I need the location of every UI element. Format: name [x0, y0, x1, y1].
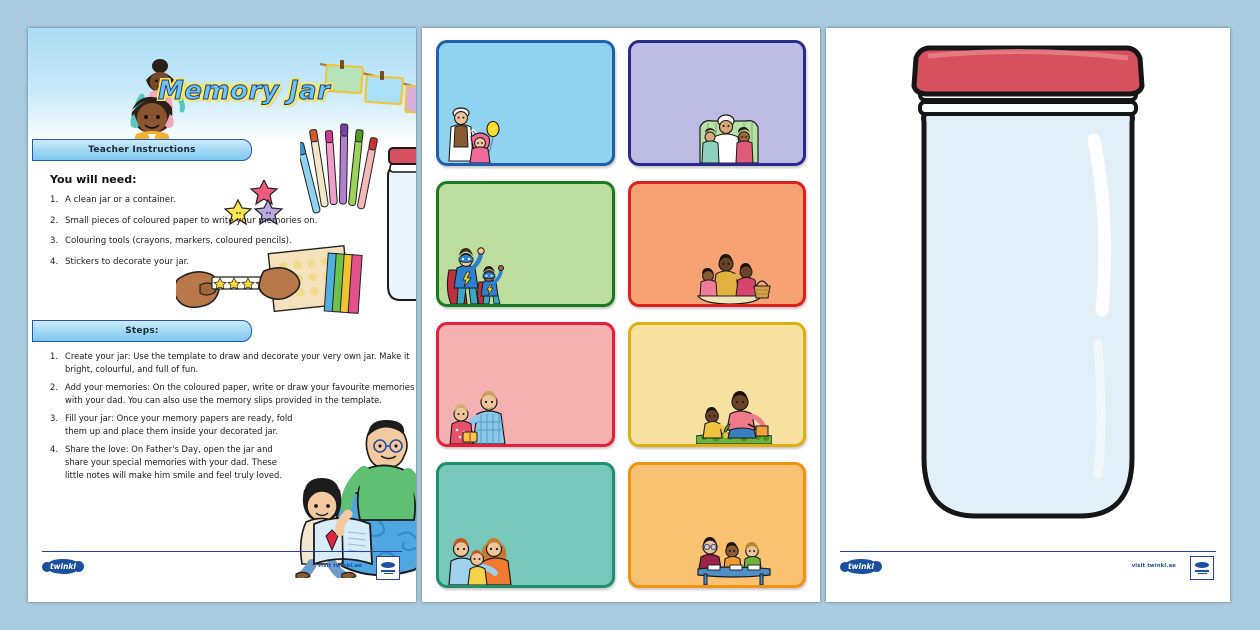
list-item: 1. Create your jar: Use the template to … [50, 350, 416, 376]
list-item: 4. Stickers to decorate your jar. [50, 257, 350, 268]
list-item: 4. Share the love: On Father's Day, open… [50, 443, 293, 482]
steps-label: Steps: [125, 326, 159, 336]
teacher-instructions-label: Teacher Instructions [88, 145, 195, 155]
visit-twinkl-link[interactable]: visit twinkl.ae [1132, 563, 1176, 569]
family-group-hug-icon [445, 527, 521, 585]
page-title: Memory Jar [158, 76, 330, 106]
dad-and-toddler-icon [445, 386, 521, 444]
family-picnic-icon [696, 246, 772, 304]
steps-banner: Steps: [32, 320, 252, 342]
memory-slip-1[interactable] [436, 40, 615, 166]
list-item: 3. Fill your jar: Once your memory paper… [50, 412, 293, 438]
memory-slip-7[interactable] [436, 462, 615, 588]
memory-slip-4[interactable] [628, 181, 807, 307]
list-number: 1. [50, 195, 58, 206]
twinkl-logo-text: twinkl [50, 562, 76, 571]
page-1-footer: twinkl visit twinkl.ae [42, 551, 402, 584]
family-crafting-table-icon [696, 527, 772, 585]
page-3-footer: twinkl visit twinkl.ae [840, 551, 1216, 584]
list-text: Create your jar: Use the template to dra… [65, 351, 410, 374]
list-text: Fill your jar: Once your memory papers a… [65, 413, 293, 436]
memory-slip-5[interactable] [436, 322, 615, 448]
list-number: 3. [50, 236, 58, 247]
twinkl-logo[interactable]: twinkl [844, 559, 878, 574]
list-number: 4. [50, 257, 58, 268]
list-number: 1. [50, 350, 58, 363]
memory-slip-6[interactable] [628, 322, 807, 448]
list-text: Share the love: On Father's Day, open th… [65, 444, 282, 480]
twinkl-quality-badge [376, 556, 400, 580]
list-text: A clean jar or a container. [65, 195, 176, 205]
memory-slips-grid [436, 40, 806, 588]
list-item: 1. A clean jar or a container. [50, 195, 350, 206]
badge-cloud-icon [1195, 562, 1209, 568]
twinkl-logo[interactable]: twinkl [46, 559, 80, 574]
list-number: 4. [50, 443, 58, 456]
list-text: Add your memories: On the coloured paper… [65, 382, 414, 405]
list-number: 3. [50, 412, 58, 425]
materials-list: 1. A clean jar or a container. 2. Small … [50, 195, 350, 268]
list-number: 2. [50, 381, 58, 394]
list-item: 2. Add your memories: On the coloured pa… [50, 381, 416, 407]
list-text: Stickers to decorate your jar. [65, 257, 189, 267]
materials-heading: You will need: [50, 173, 350, 186]
badge-line [1195, 570, 1209, 572]
list-item: 2. Small pieces of coloured paper to wri… [50, 216, 350, 227]
list-text: Small pieces of coloured paper to write … [65, 216, 317, 226]
grandfather-with-children-icon [696, 105, 762, 163]
materials-section: You will need: 1. A clean jar or a conta… [50, 173, 350, 278]
large-jar-illustration [826, 34, 1230, 554]
badge-cloud-icon [381, 562, 395, 568]
page-3-blank-jar-template: twinkl visit twinkl.ae [826, 28, 1230, 602]
page-2-memory-slips [422, 28, 820, 602]
memory-slip-8[interactable] [628, 462, 807, 588]
page-1-teacher-instructions: Memory Jar [28, 28, 416, 602]
visit-twinkl-link[interactable]: visit twinkl.ae [318, 563, 362, 569]
memory-slip-2[interactable] [628, 40, 807, 166]
twinkl-logo-text: twinkl [848, 562, 874, 571]
memory-slip-3[interactable] [436, 181, 615, 307]
teacher-instructions-banner: Teacher Instructions [32, 139, 252, 161]
father-and-daughter-with-balloon-icon [445, 105, 511, 163]
superhero-dad-and-child-icon [445, 246, 511, 304]
badge-line [384, 573, 393, 575]
badge-line [1198, 573, 1207, 575]
screenshot-canvas: Memory Jar [0, 0, 1260, 630]
list-text: Colouring tools (crayons, markers, colou… [65, 236, 292, 246]
dad-and-child-gardening-icon [696, 386, 772, 444]
small-jar-illustration [380, 136, 416, 306]
badge-line [381, 570, 395, 572]
clothesline-decoration [320, 54, 416, 120]
list-item: 3. Colouring tools (crayons, markers, co… [50, 236, 350, 247]
twinkl-quality-badge [1190, 556, 1214, 580]
list-number: 2. [50, 216, 58, 227]
